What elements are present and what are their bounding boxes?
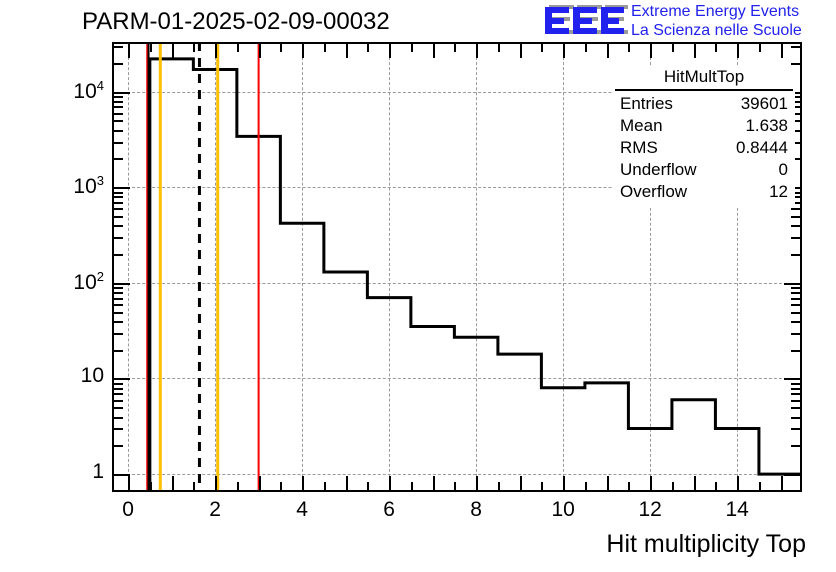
stats-value: 0: [779, 159, 788, 181]
stats-rows: Entries39601Mean1.638RMS0.8444Underflow0…: [613, 93, 795, 203]
stats-value: 0.8444: [736, 137, 788, 159]
stats-key: Overflow: [620, 181, 687, 203]
eee-logo-line1: Extreme Energy Events: [631, 2, 802, 21]
stats-value: 12: [769, 181, 788, 203]
eee-mark-icon: [543, 3, 628, 39]
stats-row: Entries39601: [613, 93, 795, 115]
y-tick-label: 103: [73, 173, 104, 199]
stats-key: Entries: [620, 93, 673, 115]
stats-key: Underflow: [620, 159, 697, 181]
y-tick-label: 104: [73, 78, 104, 104]
x-tick-label: 4: [282, 498, 322, 522]
stats-row: Overflow12: [613, 181, 795, 203]
x-tick-label: 12: [630, 498, 670, 522]
eee-logo-line2: La Scienza nelle Scuole: [631, 21, 802, 40]
x-tick-label: 10: [543, 498, 583, 522]
y-tick-label: 10: [81, 364, 104, 388]
stats-title: HitMultTop: [615, 66, 793, 91]
root-canvas: PARM-01-2025-02-09-00032: [0, 0, 836, 572]
stats-value: 39601: [741, 93, 788, 115]
stats-row: Underflow0: [613, 159, 795, 181]
x-tick-label: 14: [717, 498, 757, 522]
eee-logo: Extreme Energy Events La Scienza nelle S…: [543, 2, 833, 42]
x-tick-label: 2: [195, 498, 235, 522]
y-tick-label: 102: [73, 269, 104, 295]
eee-logo-text: Extreme Energy Events La Scienza nelle S…: [631, 2, 802, 40]
stats-key: RMS: [620, 137, 658, 159]
x-tick-label: 8: [456, 498, 496, 522]
stats-row: Mean1.638: [613, 115, 795, 137]
page-title: PARM-01-2025-02-09-00032: [82, 8, 390, 36]
stats-row: RMS0.8444: [613, 137, 795, 159]
stats-value: 1.638: [745, 115, 788, 137]
y-tick-label: 1: [92, 460, 104, 484]
stats-key: Mean: [620, 115, 663, 137]
x-tick-label: 6: [369, 498, 409, 522]
x-axis-title: Hit multiplicity Top: [606, 530, 806, 559]
stats-box: HitMultTop Entries39601Mean1.638RMS0.844…: [613, 66, 795, 208]
x-tick-label: 0: [108, 498, 148, 522]
